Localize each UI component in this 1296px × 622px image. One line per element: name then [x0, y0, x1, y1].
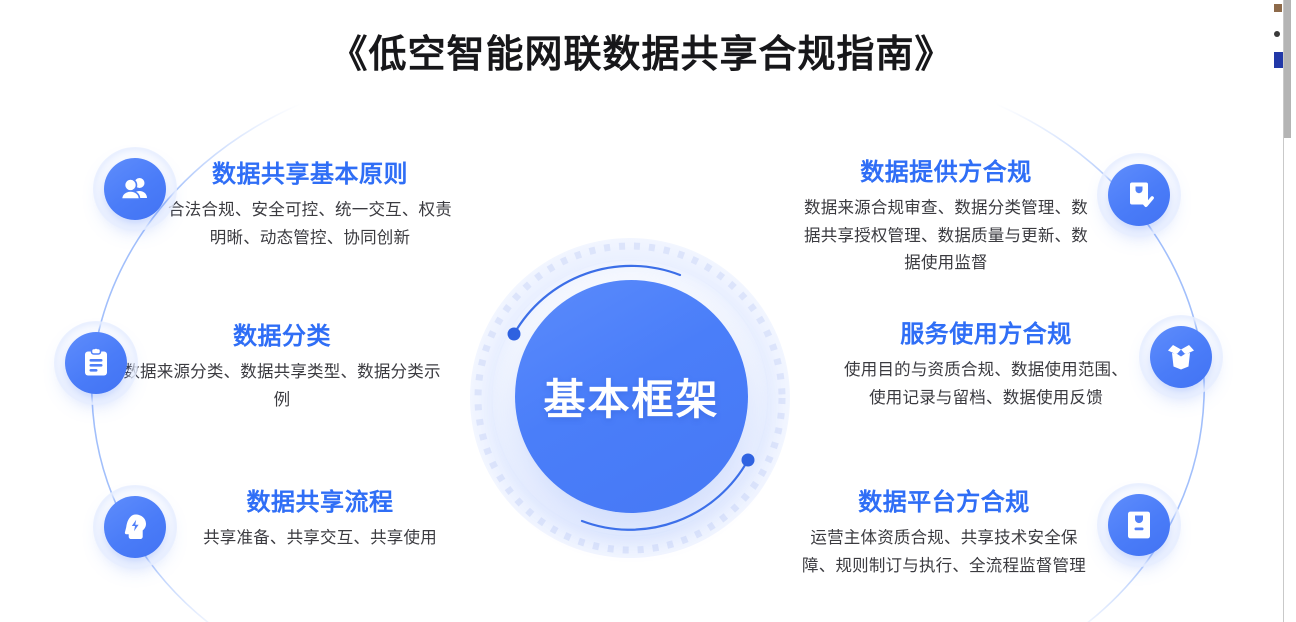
item-description: 数据来源分类、数据共享类型、数据分类示例	[122, 359, 442, 414]
item-heading: 数据分类	[122, 322, 442, 352]
item-text-block: 数据提供方合规 数据来源合规审查、数据分类管理、数据共享授权管理、数据质量与更新…	[796, 158, 1096, 278]
item-heading: 数据平台方合规	[794, 488, 1094, 518]
edge-artifact	[1274, 31, 1280, 37]
document-form-icon	[1108, 494, 1170, 556]
clipboard-icon	[65, 332, 127, 394]
item-description: 使用目的与资质合规、数据使用范围、使用记录与留档、数据使用反馈	[836, 357, 1136, 412]
item-heading: 服务使用方合规	[836, 320, 1136, 350]
item-text-block: 服务使用方合规 使用目的与资质合规、数据使用范围、使用记录与留档、数据使用反馈	[836, 320, 1136, 412]
users-icon	[104, 158, 166, 220]
item-description: 运营主体资质合规、共享技术安全保障、规则制订与执行、全流程监督管理	[794, 525, 1094, 580]
item-heading: 数据共享基本原则	[160, 160, 460, 190]
edge-artifact	[1274, 4, 1282, 12]
item-description: 数据来源合规审查、数据分类管理、数据共享授权管理、数据质量与更新、数据使用监督	[796, 195, 1096, 278]
edge-artifact	[1274, 52, 1283, 68]
item-text-block: 数据分类 数据来源分类、数据共享类型、数据分类示例	[122, 322, 442, 414]
item-description: 共享准备、共享交互、共享使用	[160, 525, 480, 553]
item-text-block: 数据共享基本原则 合法合规、安全可控、统一交互、权责明晰、动态管控、协同创新	[160, 160, 460, 252]
center-node: 基本框架	[470, 238, 790, 558]
scrollbar-thumb[interactable]	[1284, 0, 1291, 138]
item-heading: 数据提供方合规	[796, 158, 1096, 188]
brain-bolt-icon	[104, 496, 166, 558]
item-text-block: 数据共享流程 共享准备、共享交互、共享使用	[160, 488, 480, 553]
item-text-block: 数据平台方合规 运营主体资质合规、共享技术安全保障、规则制订与执行、全流程监督管…	[794, 488, 1094, 580]
item-description: 合法合规、安全可控、统一交互、权责明晰、动态管控、协同创新	[160, 197, 460, 252]
infographic-canvas: 《低空智能网联数据共享合规指南》 基本框架 数据共	[0, 0, 1296, 622]
open-box-icon	[1150, 326, 1212, 388]
document-check-icon	[1108, 164, 1170, 226]
center-circle: 基本框架	[515, 280, 748, 513]
item-heading: 数据共享流程	[160, 488, 480, 518]
page-title: 《低空智能网联数据共享合规指南》	[0, 33, 1283, 79]
center-label: 基本框架	[543, 366, 719, 427]
